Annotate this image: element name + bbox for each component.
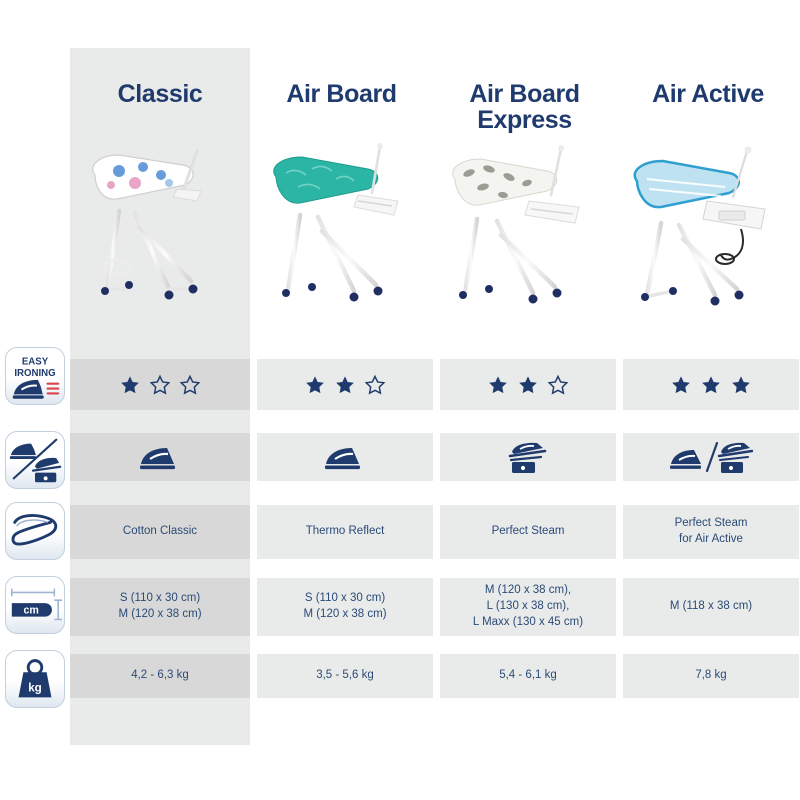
product-image-classic bbox=[73, 139, 248, 339]
cell-cover-classic: Cotton Classic bbox=[70, 505, 250, 559]
cell-sizes-air-active: M (118 x 38 cm) bbox=[623, 578, 799, 636]
row-weight: 4,2 - 6,3 kg 3,5 - 5,6 kg 5,4 - 6,1 kg 7… bbox=[0, 654, 800, 698]
product-image-air-board bbox=[254, 139, 429, 339]
product-column-air-board-express[interactable]: Air Board Express bbox=[433, 48, 616, 353]
star-empty-icon bbox=[364, 374, 386, 396]
star-filled-icon bbox=[517, 374, 539, 396]
product-image-air-active bbox=[621, 139, 796, 339]
product-image-air-board-express bbox=[437, 139, 612, 339]
cell-appliance-air-board-express bbox=[440, 433, 616, 481]
steam-iron-icon bbox=[138, 442, 182, 472]
star-rating bbox=[483, 374, 573, 396]
product-column-classic[interactable]: Classic bbox=[70, 48, 250, 353]
cell-cover-air-board-express: Perfect Steam bbox=[440, 505, 616, 559]
iron-or-steam-station-icon bbox=[5, 431, 65, 489]
row-cover: Cotton Classic Thermo Reflect Perfect St… bbox=[0, 505, 800, 559]
star-filled-icon bbox=[670, 374, 692, 396]
cell-stars-classic bbox=[70, 359, 250, 410]
product-header-row: Classic bbox=[0, 48, 800, 353]
star-filled-icon bbox=[700, 374, 722, 396]
steam-iron-icon bbox=[323, 442, 367, 472]
cell-weight-air-board: 3,5 - 5,6 kg bbox=[257, 654, 433, 698]
weight-kg-label: kg bbox=[28, 682, 42, 695]
iron-and-steam-station-icon bbox=[669, 440, 753, 474]
feature-icon-rail: EASY IRONING bbox=[0, 0, 70, 800]
star-filled-icon bbox=[334, 374, 356, 396]
weight-kg-icon: kg bbox=[5, 650, 65, 708]
comparison-table: Classic bbox=[0, 0, 800, 800]
star-empty-icon bbox=[179, 374, 201, 396]
product-title: Air Board Express bbox=[469, 81, 579, 137]
cell-weight-air-board-express: 5,4 - 6,1 kg bbox=[440, 654, 616, 698]
star-empty-icon bbox=[547, 374, 569, 396]
cell-appliance-air-board bbox=[257, 433, 433, 481]
cell-sizes-classic: S (110 x 30 cm) M (120 x 38 cm) bbox=[70, 578, 250, 636]
star-filled-icon bbox=[730, 374, 752, 396]
star-filled-icon bbox=[487, 374, 509, 396]
star-empty-icon bbox=[149, 374, 171, 396]
cell-sizes-air-board-express: M (120 x 38 cm), L (130 x 38 cm), L Maxx… bbox=[440, 578, 616, 636]
cell-weight-classic: 4,2 - 6,3 kg bbox=[70, 654, 250, 698]
product-column-air-board[interactable]: Air Board bbox=[250, 48, 433, 353]
cell-stars-air-board-express bbox=[440, 359, 616, 410]
cell-sizes-air-board: S (110 x 30 cm) M (120 x 38 cm) bbox=[257, 578, 433, 636]
star-rating bbox=[115, 374, 205, 396]
row-sizes: S (110 x 30 cm) M (120 x 38 cm) S (110 x… bbox=[0, 578, 800, 636]
size-cm-label: cm bbox=[23, 605, 38, 617]
cell-appliance-air-active bbox=[623, 433, 799, 481]
star-rating bbox=[666, 374, 756, 396]
cell-stars-air-active bbox=[623, 359, 799, 410]
cell-cover-air-board: Thermo Reflect bbox=[257, 505, 433, 559]
product-title: Air Active bbox=[652, 81, 764, 137]
cell-appliance-classic bbox=[70, 433, 250, 481]
product-column-air-active[interactable]: Air Active bbox=[616, 48, 800, 353]
product-title: Classic bbox=[118, 81, 203, 137]
steam-station-icon bbox=[508, 440, 548, 474]
board-cover-icon bbox=[5, 502, 65, 560]
star-filled-icon bbox=[304, 374, 326, 396]
cell-cover-air-active: Perfect Steam for Air Active bbox=[623, 505, 799, 559]
product-title: Air Board bbox=[286, 81, 396, 137]
easy-ironing-icon: EASY IRONING bbox=[5, 347, 65, 405]
star-rating bbox=[300, 374, 390, 396]
star-filled-icon bbox=[119, 374, 141, 396]
size-cm-icon: cm bbox=[5, 576, 65, 634]
cell-stars-air-board bbox=[257, 359, 433, 410]
cell-weight-air-active: 7,8 kg bbox=[623, 654, 799, 698]
row-appliance-type bbox=[0, 433, 800, 481]
easy-ironing-label-line1: EASY bbox=[22, 356, 49, 367]
easy-ironing-label-line2: IRONING bbox=[14, 368, 55, 379]
row-ease-of-ironing bbox=[0, 359, 800, 410]
